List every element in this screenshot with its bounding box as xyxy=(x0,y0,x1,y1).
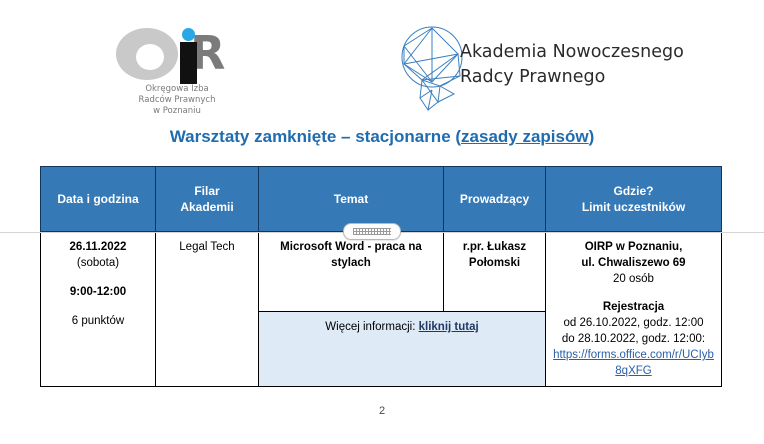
table-row: 26.11.2022 (sobota) 9:00-12:00 6 punktów… xyxy=(41,232,722,312)
registration-from: od 26.10.2022, godz. 12:00 xyxy=(552,315,715,331)
registration-title: Rejestracja xyxy=(552,299,715,315)
cell-pillar: Legal Tech xyxy=(156,232,259,387)
registration-to: do 28.10.2022, godz. 12:00: xyxy=(552,331,715,347)
column-header-topic: Temat xyxy=(259,167,444,232)
oirp-logo: R Okręgowa Izba Radców Prawnych w Poznan… xyxy=(112,24,242,114)
oirp-i-dot xyxy=(182,28,195,41)
page-number: 2 xyxy=(0,405,764,417)
document-page: R Okręgowa Izba Radców Prawnych w Poznan… xyxy=(0,0,764,444)
page-title: Warsztaty zamknięte – stacjonarne (zasad… xyxy=(0,127,764,147)
column-header-where: Gdzie? Limit uczestników xyxy=(546,167,722,232)
cell-more-info: Więcej informacji: kliknij tutaj xyxy=(259,312,546,387)
oirp-i-stem xyxy=(180,42,197,84)
registration-form-link[interactable]: https://forms.office.com/r/UCIyb8qXFG xyxy=(553,349,714,377)
akademia-logo: Akademia Nowoczesnego Radcy Prawnego xyxy=(392,24,682,116)
date-time: 9:00-12:00 xyxy=(47,284,149,300)
akademia-text-line-1: Akademia Nowoczesnego xyxy=(460,40,684,65)
where-line-1: OIRP w Poznaniu, xyxy=(552,239,715,255)
date-value: 26.11.2022 xyxy=(47,239,149,255)
column-header-where-line-1: Gdzie? xyxy=(550,183,717,199)
cell-lead: r.pr. Łukasz Połomski xyxy=(444,232,546,312)
date-weekday: (sobota) xyxy=(47,255,149,271)
column-header-pillar-line-2: Akademii xyxy=(160,199,254,215)
table-header: Data i godzina Filar Akademii Temat Prow… xyxy=(41,167,722,232)
oirp-o-shape xyxy=(116,28,178,80)
more-info-link[interactable]: kliknij tutaj xyxy=(419,321,479,333)
akademia-text-line-2: Radcy Prawnego xyxy=(460,65,684,90)
table-header-row: Data i godzina Filar Akademii Temat Prow… xyxy=(41,167,722,232)
akademia-logo-text: Akademia Nowoczesnego Radcy Prawnego xyxy=(460,40,684,90)
oirp-caption-line-1: Okręgowa Izba xyxy=(112,84,242,95)
oirp-monogram-icon: R xyxy=(112,24,242,82)
date-spacer xyxy=(47,271,149,284)
cell-date: 26.11.2022 (sobota) 9:00-12:00 6 punktów xyxy=(41,232,156,387)
cell-where: OIRP w Poznaniu, ul. Chwaliszewo 69 20 o… xyxy=(546,232,722,387)
resize-grip-icon xyxy=(353,228,391,235)
oirp-logo-caption: Okręgowa Izba Radców Prawnych w Poznaniu xyxy=(112,84,242,117)
oirp-caption-line-2: Radców Prawnych xyxy=(112,95,242,106)
cell-topic: Microsoft Word - praca na stylach xyxy=(259,232,444,312)
date-points: 6 punktów xyxy=(47,313,149,329)
date-spacer-2 xyxy=(47,300,149,313)
zasady-zapisow-link[interactable]: zasady zapisów xyxy=(461,127,589,146)
logo-band: R Okręgowa Izba Radców Prawnych w Poznan… xyxy=(0,0,764,120)
column-header-date: Data i godzina xyxy=(41,167,156,232)
table-resize-handle[interactable] xyxy=(343,223,401,240)
where-line-2: ul. Chwaliszewo 69 xyxy=(552,255,715,271)
page-title-suffix: ) xyxy=(589,127,595,146)
where-spacer xyxy=(552,287,715,299)
page-title-prefix: Warsztaty zamknięte – stacjonarne ( xyxy=(170,127,461,146)
column-header-pillar: Filar Akademii xyxy=(156,167,259,232)
more-info-label: Więcej informacji: xyxy=(325,321,415,333)
column-header-where-line-2: Limit uczestników xyxy=(550,199,717,215)
where-limit: 20 osób xyxy=(552,271,715,287)
oirp-caption-line-3: w Poznaniu xyxy=(112,106,242,117)
table-body: 26.11.2022 (sobota) 9:00-12:00 6 punktów… xyxy=(41,232,722,387)
oirp-o-hole xyxy=(136,44,164,70)
workshops-table: Data i godzina Filar Akademii Temat Prow… xyxy=(40,166,722,387)
column-header-pillar-line-1: Filar xyxy=(160,183,254,199)
column-header-lead: Prowadzący xyxy=(444,167,546,232)
